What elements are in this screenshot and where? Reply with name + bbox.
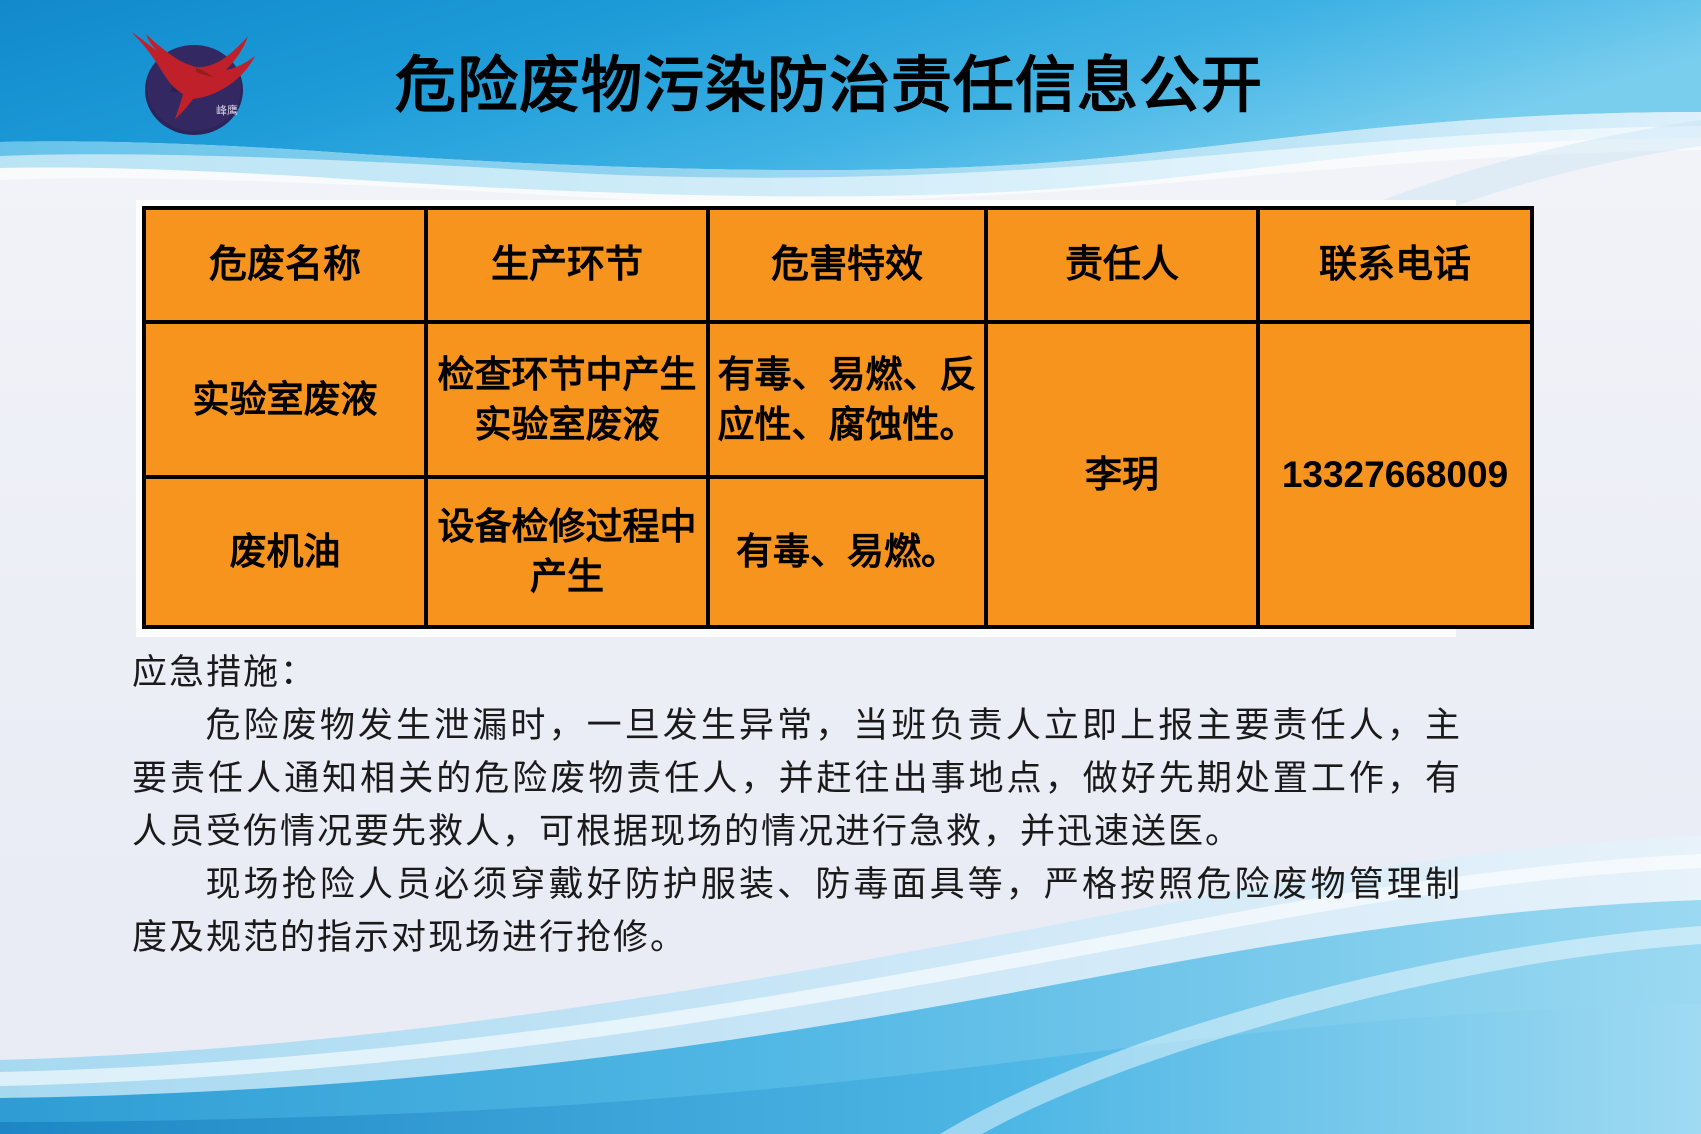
hazardous-waste-table-container: 危废名称 生产环节 危害特效 责任人 联系电话 实验室废液 检查环节中产生 实验… [136,200,1456,637]
column-header-responsible-person: 责任人 [986,208,1258,322]
svg-text:峰鹰: 峰鹰 [216,103,238,117]
eagle-logo-icon: 峰鹰 [108,18,278,143]
cell-stage-1-line2: 实验室废液 [434,400,700,450]
emergency-measures-block: 应急措施： 危险废物发生泄漏时，一旦发生异常，当班负责人立即上报主要责任人，主要… [132,646,1462,964]
column-header-production-stage: 生产环节 [426,208,708,322]
emergency-measures-paragraph-2: 现场抢险人员必须穿戴好防护服装、防毒面具等，严格按照危险废物管理制度及规范的指示… [132,858,1462,964]
cell-hazard-2: 有毒、易燃。 [708,477,986,627]
cell-contact-phone: 13327668009 [1258,322,1532,627]
cell-stage-2-line1: 设备检修过程中 [434,502,700,552]
cell-stage-2-line2: 产生 [434,552,700,602]
table-header-row: 危废名称 生产环节 危害特效 责任人 联系电话 [144,208,1532,322]
emergency-measures-paragraph-1: 危险废物发生泄漏时，一旦发生异常，当班负责人立即上报主要责任人，主要责任人通知相… [132,699,1462,858]
cell-waste-name-1: 实验室废液 [144,322,426,477]
table-row: 实验室废液 检查环节中产生 实验室废液 有毒、易燃、反 应性、腐蚀性。 李玥 1… [144,322,1532,477]
cell-production-stage-2: 设备检修过程中 产生 [426,477,708,627]
column-header-hazard-property: 危害特效 [708,208,986,322]
slide-header: 峰鹰 危险废物污染防治责任信息公开 [0,0,1701,175]
cell-waste-name-2: 废机油 [144,477,426,627]
column-header-contact-phone: 联系电话 [1258,208,1532,322]
cell-hazard-1-line1: 有毒、易燃、反 [716,350,978,400]
hazardous-waste-table: 危废名称 生产环节 危害特效 责任人 联系电话 实验室废液 检查环节中产生 实验… [142,206,1534,629]
emergency-measures-heading: 应急措施： [132,646,1462,699]
cell-hazard-1-line2: 应性、腐蚀性。 [716,400,978,450]
cell-responsible-person: 李玥 [986,322,1258,627]
cell-hazard-1: 有毒、易燃、反 应性、腐蚀性。 [708,322,986,477]
cell-production-stage-1: 检查环节中产生 实验室废液 [426,322,708,477]
page-title: 危险废物污染防治责任信息公开 [395,48,1395,122]
cell-stage-1-line1: 检查环节中产生 [434,350,700,400]
slide-canvas: 峰鹰 危险废物污染防治责任信息公开 危废名称 生产环节 危害特效 责任人 联系电… [0,0,1701,1134]
column-header-waste-name: 危废名称 [144,208,426,322]
